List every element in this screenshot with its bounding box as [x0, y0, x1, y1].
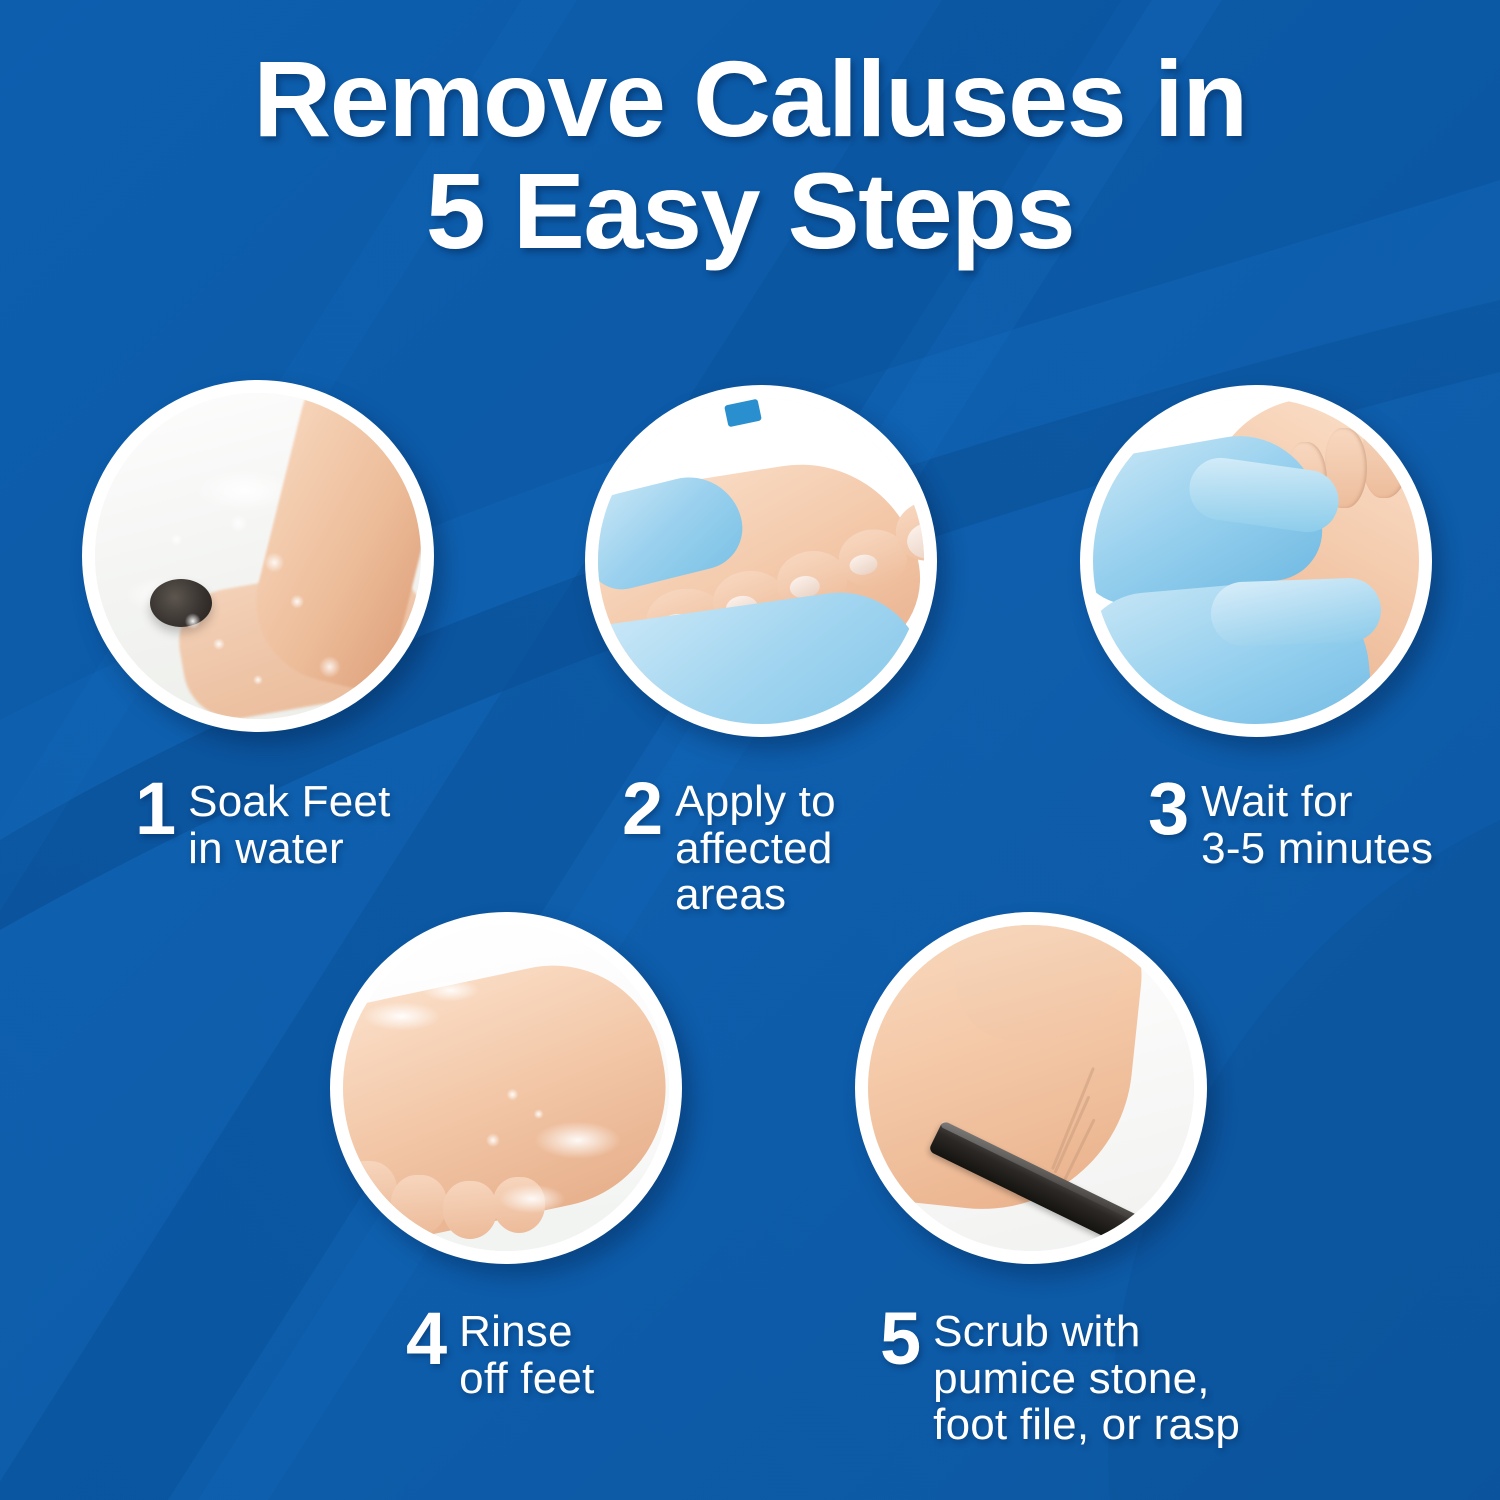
- poster-title: Remove Calluses in 5 Easy Steps: [0, 44, 1500, 266]
- step-5-caption: 5 Scrub with pumice stone, foot file, or…: [880, 1305, 1240, 1449]
- step-4-label: Rinse off feet: [459, 1305, 594, 1402]
- step-3-number: 3: [1148, 775, 1187, 843]
- step-2-line-1: Apply to: [675, 779, 836, 826]
- step-2-caption: 2 Apply to affected areas: [622, 775, 836, 919]
- title-line-1: Remove Calluses in: [0, 44, 1500, 154]
- gloved-hands-applying-illustration: [598, 398, 924, 724]
- step-5-number: 5: [880, 1305, 919, 1373]
- step-4-caption: 4 Rinse off feet: [406, 1305, 595, 1402]
- step-3-line-2: 3-5 minutes: [1201, 826, 1433, 873]
- step-3-line-1: Wait for: [1201, 779, 1433, 826]
- step-5-line-3: foot file, or rasp: [933, 1402, 1240, 1449]
- step-4-number: 4: [406, 1305, 445, 1373]
- step-2-line-2: affected: [675, 826, 836, 873]
- infographic-poster: Remove Calluses in 5 Easy Steps 1: [0, 0, 1500, 1500]
- step-5-photo: [855, 912, 1207, 1264]
- step-3-caption: 3 Wait for 3-5 minutes: [1148, 775, 1433, 872]
- step-2-number: 2: [622, 775, 661, 843]
- step-5-photo-image: [868, 925, 1194, 1251]
- step-1-line-1: Soak Feet: [188, 779, 390, 826]
- foot-bath-illustration: [95, 393, 421, 719]
- step-4-photo-image: [343, 925, 669, 1251]
- step-1-number: 1: [135, 775, 174, 843]
- step-2-photo: [585, 385, 937, 737]
- step-2-label: Apply to affected areas: [675, 775, 836, 919]
- heel-with-foot-file-illustration: [868, 925, 1194, 1251]
- step-1-photo: [82, 380, 434, 732]
- gloved-hands-massaging-illustration: [1093, 398, 1419, 724]
- step-2-line-3: areas: [675, 872, 836, 919]
- title-line-2: 5 Easy Steps: [0, 156, 1500, 266]
- step-3-photo-image: [1093, 398, 1419, 724]
- step-1-label: Soak Feet in water: [188, 775, 390, 872]
- step-5-line-2: pumice stone,: [933, 1356, 1240, 1403]
- step-2-photo-image: [598, 398, 924, 724]
- step-1-line-2: in water: [188, 826, 390, 873]
- foot-rinsing-illustration: [343, 925, 669, 1251]
- step-1-photo-image: [95, 393, 421, 719]
- step-4-line-2: off feet: [459, 1356, 594, 1403]
- step-4-line-1: Rinse: [459, 1309, 594, 1356]
- step-5-label: Scrub with pumice stone, foot file, or r…: [933, 1305, 1240, 1449]
- step-5-line-1: Scrub with: [933, 1309, 1240, 1356]
- step-3-label: Wait for 3-5 minutes: [1201, 775, 1433, 872]
- step-3-photo: [1080, 385, 1432, 737]
- step-1-caption: 1 Soak Feet in water: [135, 775, 391, 872]
- step-4-photo: [330, 912, 682, 1264]
